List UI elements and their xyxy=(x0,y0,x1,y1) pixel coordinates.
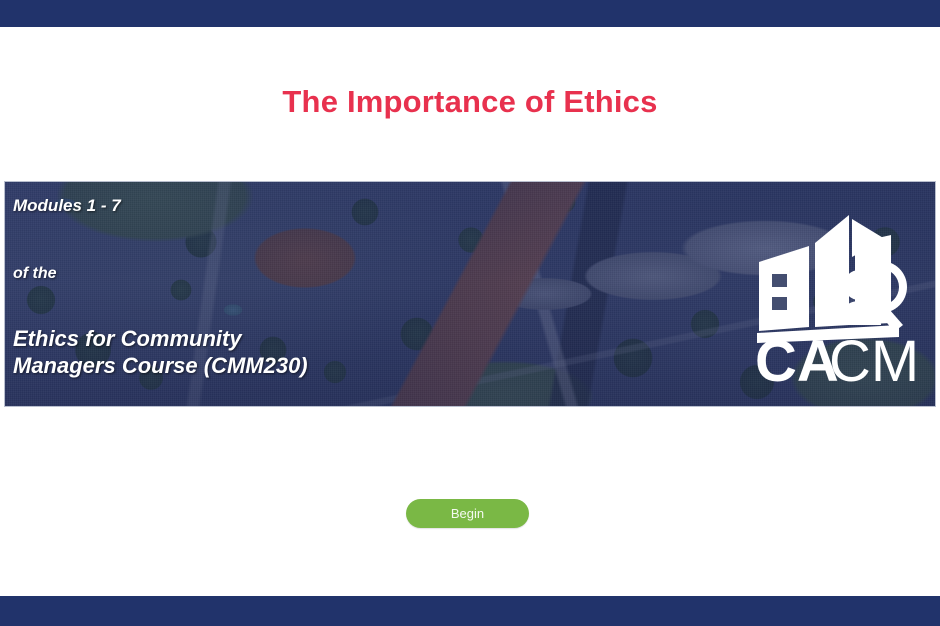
cacm-logo: CA CM xyxy=(749,213,921,388)
hero-banner: Modules 1 - 7 of the Ethics for Communit… xyxy=(4,181,936,407)
wordmark-bold: CA xyxy=(755,329,839,388)
wordmark-light: CM xyxy=(829,329,919,388)
connector-label: of the xyxy=(13,264,483,283)
bottom-accent-bar xyxy=(0,596,940,626)
cacm-wordmark: CA CM xyxy=(755,329,919,388)
course-label-line-2: Managers Course (CMM230) xyxy=(13,352,483,379)
hero-text-block: Modules 1 - 7 of the Ethics for Communit… xyxy=(13,196,483,379)
begin-button[interactable]: Begin xyxy=(406,499,529,528)
modules-label: Modules 1 - 7 xyxy=(13,196,483,216)
course-title-slide: The Importance of Ethics Modules 1 - 7 o… xyxy=(0,0,940,626)
page-title: The Importance of Ethics xyxy=(0,84,940,120)
top-accent-bar xyxy=(0,0,940,27)
course-label: Ethics for Community Managers Course (CM… xyxy=(13,325,483,379)
course-label-line-1: Ethics for Community xyxy=(13,325,483,352)
